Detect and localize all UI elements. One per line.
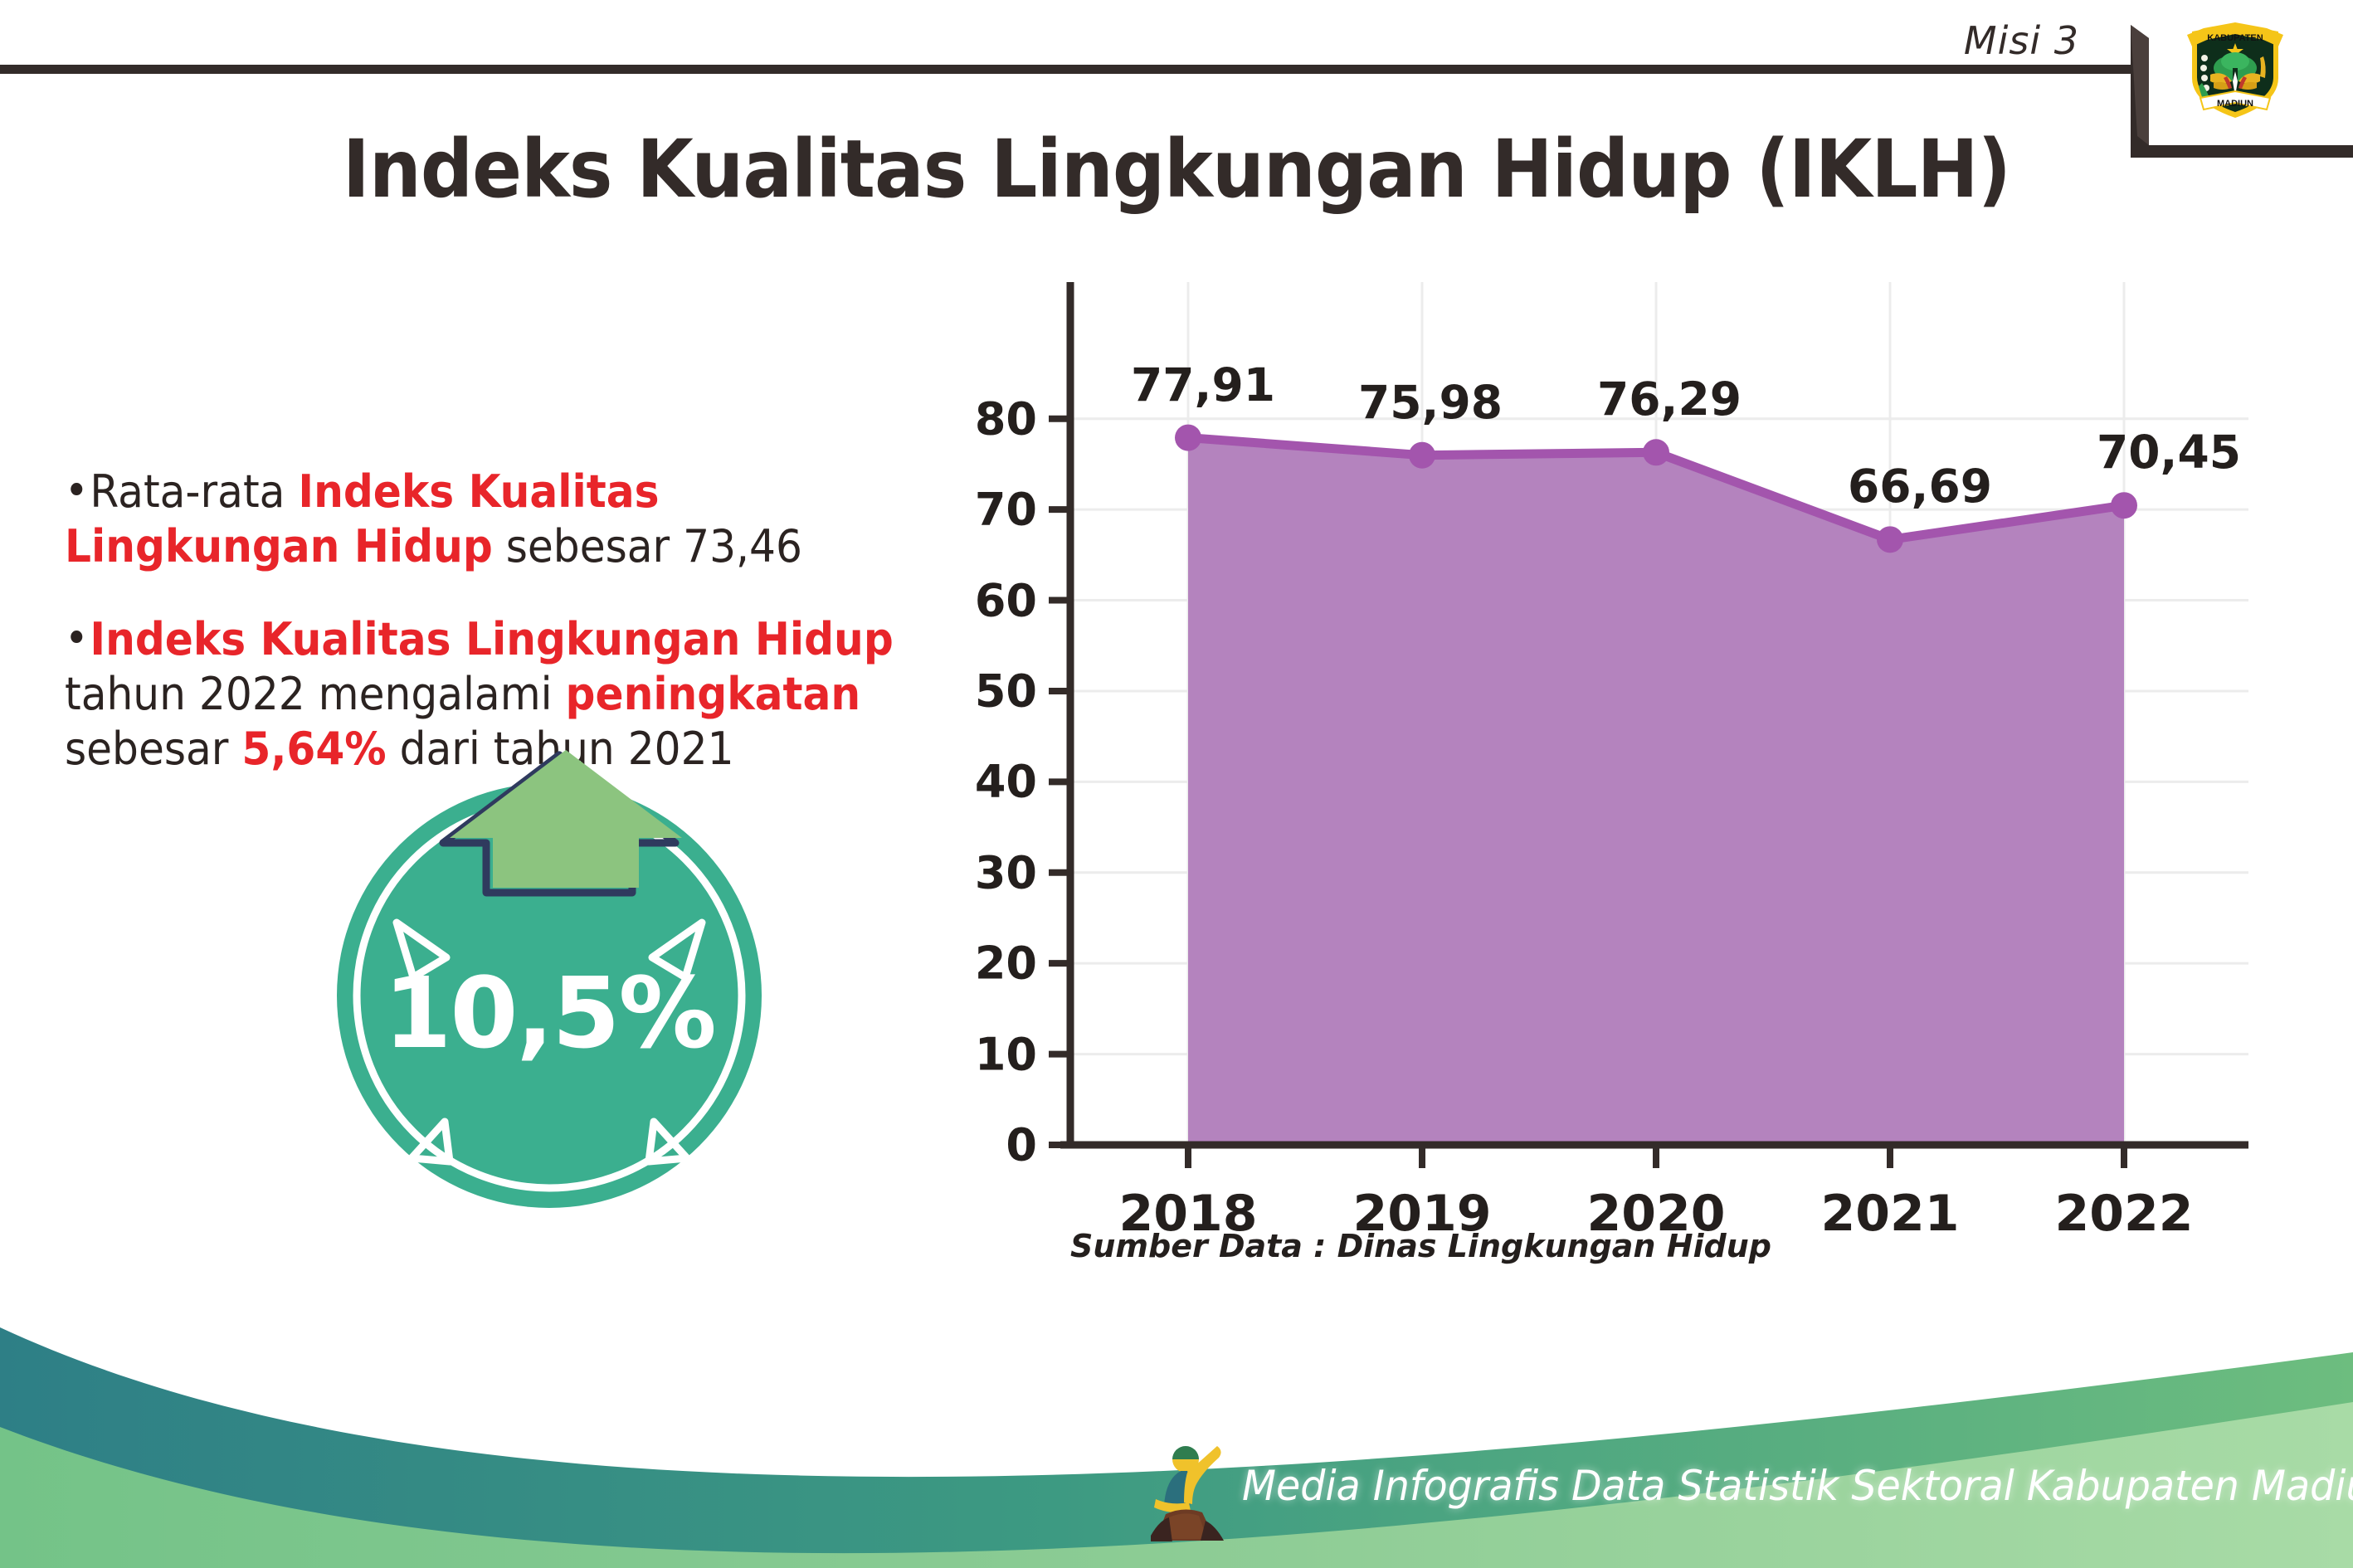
text-run: sebesar (65, 723, 241, 775)
data-point-marker (1877, 526, 1903, 553)
text-run: Rata-rata (90, 465, 298, 518)
y-tick-label: 40 (975, 756, 1037, 808)
data-point-marker (1175, 425, 1201, 451)
header-divider-line (0, 65, 2135, 74)
y-tick-label: 70 (975, 484, 1037, 536)
y-tick-label: 30 (975, 846, 1037, 898)
misi-label: Misi 3 (1964, 18, 2079, 63)
x-tick-label: 2021 (1821, 1185, 1960, 1243)
data-point-label: 70,45 (2097, 426, 2241, 479)
y-tick-label: 50 (975, 665, 1037, 717)
increase-badge (325, 747, 773, 1211)
y-tick-label: 0 (1006, 1119, 1037, 1171)
y-tick-label: 80 (975, 392, 1037, 445)
data-point-marker (1643, 439, 1669, 465)
kabupaten-madiun-emblem: KABUPATEN MADIUN (2184, 10, 2287, 121)
area-fill (1188, 438, 2124, 1145)
svg-text:KABUPATEN: KABUPATEN (2207, 33, 2263, 43)
data-point-label: 76,29 (1597, 373, 1742, 426)
y-tick-label: 60 (975, 574, 1037, 626)
y-tick-label: 20 (975, 937, 1037, 990)
text-run: sebesar 73,46 (493, 520, 802, 572)
svg-text:MADIUN: MADIUN (2217, 99, 2253, 109)
text-run: peningkatan (566, 668, 861, 720)
bullet-dot-icon: • (65, 617, 89, 660)
iklh-area-chart: 01020304050607080 20182019202020212022 7… (954, 274, 2298, 1203)
y-tick-label: 10 (975, 1028, 1037, 1080)
data-point-marker (1409, 442, 1435, 469)
page-title: Indeks Kualitas Lingkungan Hidup (IKLH) (94, 123, 2258, 216)
text-run: tahun 2022 mengalami (65, 668, 566, 720)
footer-caption: Media Infografis Data Statistik Sektoral… (1242, 1462, 2353, 1510)
chart-source-caption: Sumber Data : Dinas Lingkungan Hidup (1070, 1228, 1771, 1264)
data-point-label: 66,69 (1848, 460, 1992, 513)
media-infografis-logo (1147, 1438, 1240, 1541)
x-tick-label: 2022 (2055, 1185, 2194, 1243)
bullet-dot-icon: • (65, 470, 89, 513)
data-point-marker (2111, 492, 2137, 519)
data-point-label: 75,98 (1358, 376, 1503, 429)
data-point-label: 77,91 (1131, 358, 1275, 411)
list-item: •Rata-rata Indeks Kualitas Lingkungan Hi… (65, 465, 929, 574)
bullet-text-0: Rata-rata Indeks Kualitas Lingkungan Hid… (65, 465, 802, 572)
text-run: Indeks Kualitas Lingkungan Hidup (90, 613, 893, 665)
